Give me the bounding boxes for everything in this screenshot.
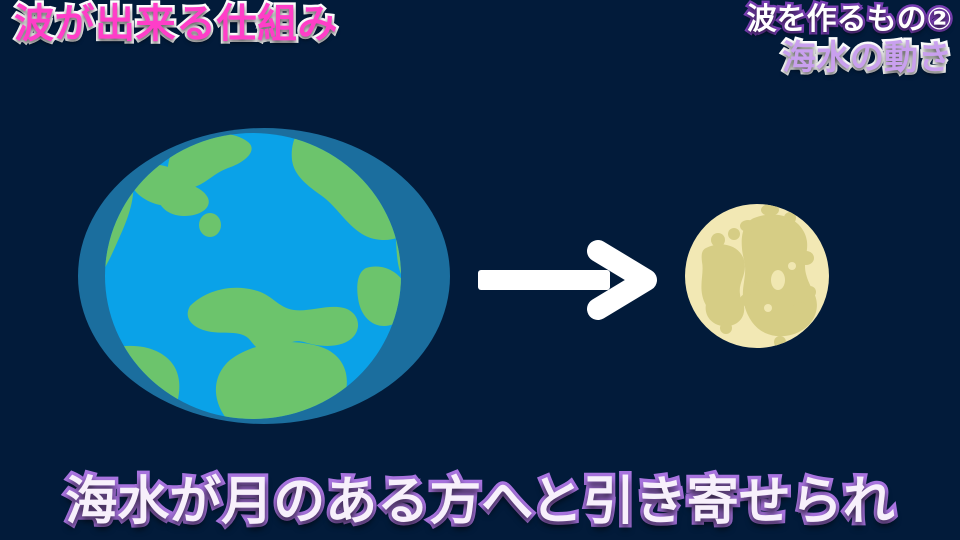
moon-illustration (682, 196, 832, 356)
caption-text: 海水が月のある方へと引き寄せられ (0, 459, 960, 534)
page-title: 波が出来る仕組み (14, 2, 338, 47)
subtitle-line-1: 波を作るもの② (747, 4, 952, 36)
earth-illustration (78, 128, 450, 424)
subtitle-line-2: 海水の動き (747, 40, 952, 77)
attraction-arrow (470, 245, 660, 315)
moon-icon (682, 196, 832, 356)
slide-canvas: 波が出来る仕組み 波を作るもの② 海水の動き (0, 0, 960, 540)
earth-icon (78, 128, 450, 424)
subtitle-block: 波を作るもの② 海水の動き (747, 4, 952, 77)
arrow-right-icon (470, 245, 660, 315)
